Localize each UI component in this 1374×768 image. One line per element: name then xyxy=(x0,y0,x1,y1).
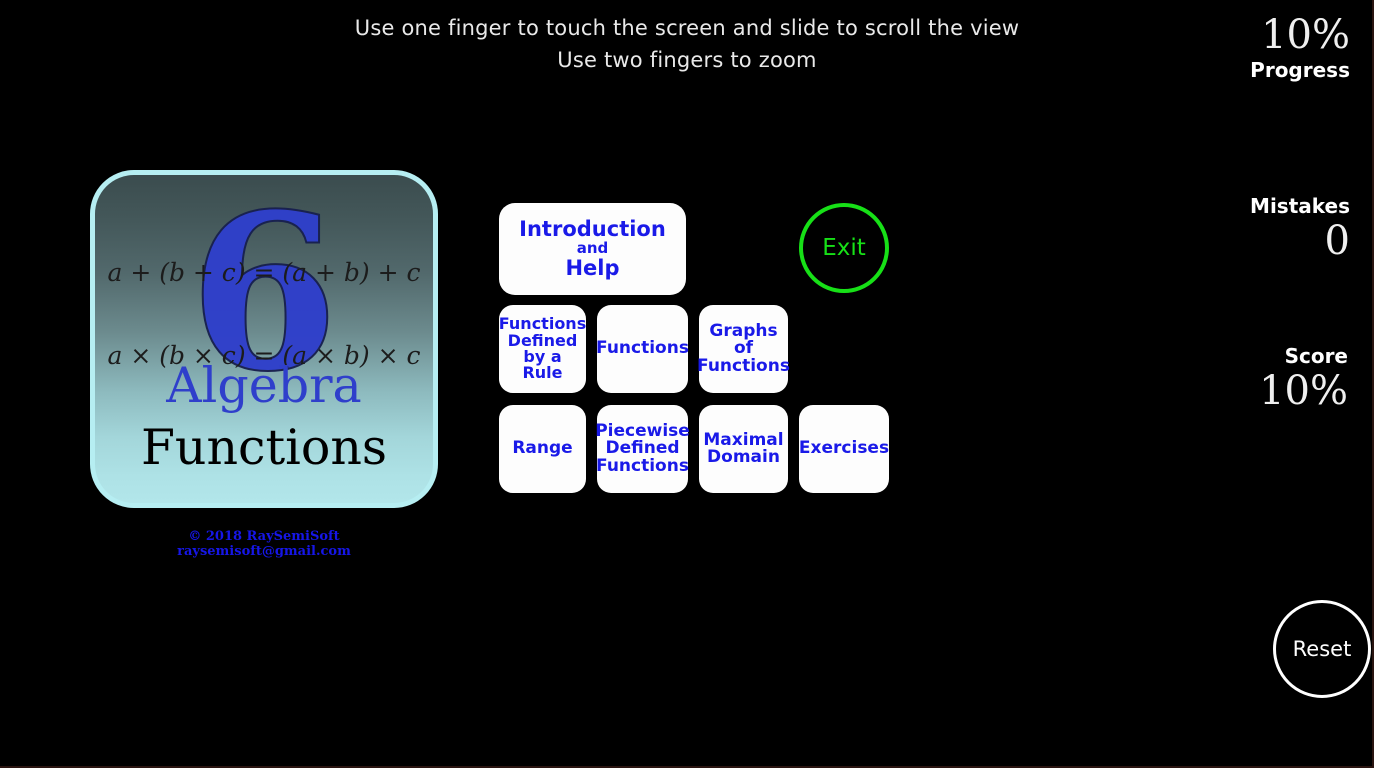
card-title: Algebra xyxy=(95,358,433,414)
copyright-notice: © 2018 RaySemiSoft raysemisoft@gmail.com xyxy=(90,529,438,559)
score-value: 10% xyxy=(1259,368,1348,414)
menu-button-exercises[interactable]: Exercises xyxy=(799,405,889,493)
exercises-label: Exercises xyxy=(799,440,889,457)
exit-button[interactable]: Exit xyxy=(799,203,889,293)
functions-label: Functions xyxy=(596,340,689,357)
menu-button-functions[interactable]: Functions xyxy=(597,305,688,393)
graphs-line-3: Functions xyxy=(697,358,790,375)
intro-line-1: Introduction xyxy=(519,219,666,240)
menu-button-introduction-and-help[interactable]: Introduction and Help xyxy=(499,203,686,295)
range-label: Range xyxy=(512,440,572,457)
menu-button-piecewise-defined-functions[interactable]: Piecewise Defined Functions xyxy=(597,405,688,493)
exit-button-label: Exit xyxy=(822,235,866,261)
intro-line-3: Help xyxy=(565,258,619,279)
progress-label: Progress xyxy=(1250,58,1350,82)
stat-progress: 10% Progress xyxy=(1250,12,1350,82)
intro-line-2: and xyxy=(577,241,609,256)
reset-button[interactable]: Reset xyxy=(1273,600,1371,698)
menu-button-functions-defined-by-a-rule[interactable]: Functions Defined by a Rule xyxy=(499,305,586,393)
stat-mistakes: Mistakes 0 xyxy=(1250,194,1350,264)
mistakes-value: 0 xyxy=(1250,218,1350,264)
score-label: Score xyxy=(1259,344,1348,368)
instructions-line-1: Use one finger to touch the screen and s… xyxy=(0,12,1374,44)
app-root: Use one finger to touch the screen and s… xyxy=(0,0,1374,768)
stat-score: Score 10% xyxy=(1259,344,1348,414)
instructions-line-2: Use two fingers to zoom xyxy=(0,44,1374,76)
copyright-line-2: raysemisoft@gmail.com xyxy=(90,544,438,559)
card-subtitle: Functions xyxy=(95,420,433,476)
piecewise-line-3: Functions xyxy=(595,458,690,475)
mistakes-label: Mistakes xyxy=(1250,194,1350,218)
menu-button-maximal-domain[interactable]: Maximal Domain xyxy=(699,405,788,493)
instructions-text: Use one finger to touch the screen and s… xyxy=(0,12,1374,76)
menu-button-range[interactable]: Range xyxy=(499,405,586,493)
associativity-addition-equation: a + (b + c) = (a + b) + c xyxy=(95,258,433,287)
menu-button-graphs-of-functions[interactable]: Graphs of Functions xyxy=(699,305,788,393)
maxdom-line-2: Domain xyxy=(703,449,783,466)
fdr-line-4: Rule xyxy=(499,365,586,381)
progress-value: 10% xyxy=(1250,12,1350,58)
copyright-line-1: © 2018 RaySemiSoft xyxy=(90,529,438,544)
reset-button-label: Reset xyxy=(1293,637,1352,661)
title-card[interactable]: 6 a + (b + c) = (a + b) + c a × (b × c) … xyxy=(90,170,438,508)
